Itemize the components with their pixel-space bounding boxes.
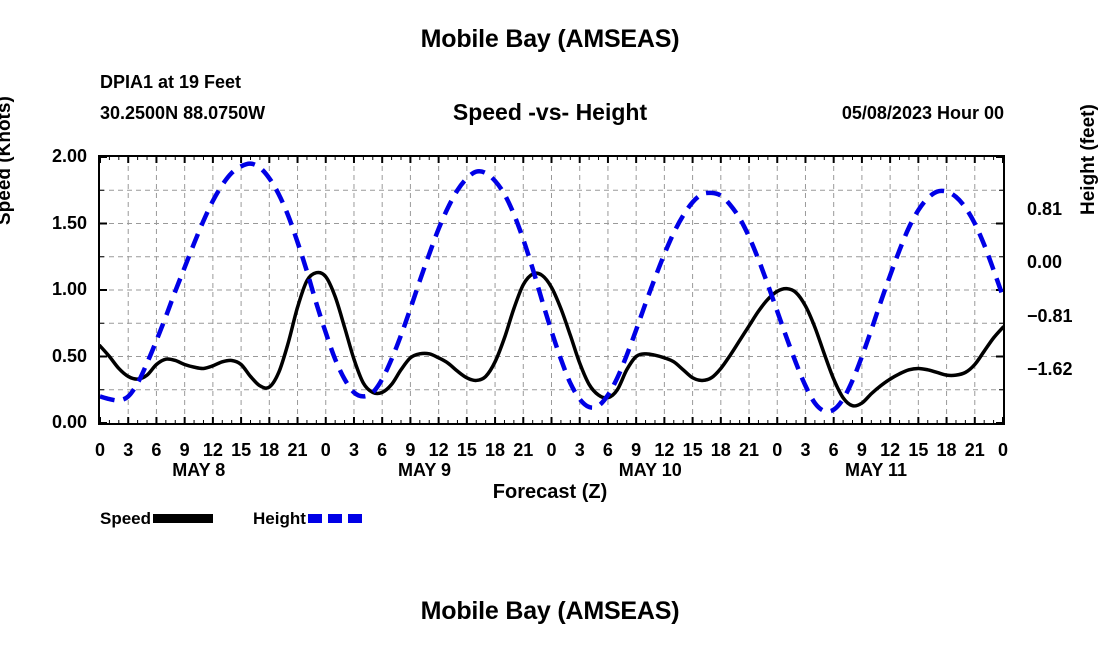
legend-swatch-speed-icon (153, 514, 213, 523)
x-tick-label: 3 (575, 440, 585, 461)
x-tick-label: 6 (377, 440, 387, 461)
x-tick-label: 21 (739, 440, 759, 461)
page-title: Mobile Bay (AMSEAS) (0, 25, 1100, 54)
x-tick-label: 12 (654, 440, 674, 461)
x-axis-label: Forecast (Z) (0, 481, 1100, 504)
x-tick-label: 15 (457, 440, 477, 461)
x-axis-day-label: MAY 8 (172, 460, 225, 481)
footer-title: Mobile Bay (AMSEAS) (0, 597, 1100, 626)
x-tick-label: 21 (513, 440, 533, 461)
x-tick-label: 12 (429, 440, 449, 461)
x-tick-label: 3 (349, 440, 359, 461)
x-tick-label: 6 (151, 440, 161, 461)
y-tick-label-left: 0.00 (52, 412, 87, 433)
y-axis-label-left: Speed (Knots) (0, 96, 16, 225)
station-name: DPIA1 at 19 Feet (100, 72, 241, 93)
y-tick-label-left: 2.00 (52, 146, 87, 167)
x-axis-day-label: MAY 11 (845, 460, 907, 481)
chart-legend: Speed Height (100, 509, 368, 527)
x-tick-label: 6 (829, 440, 839, 461)
x-axis-day-label: MAY 10 (619, 460, 682, 481)
x-tick-label: 0 (321, 440, 331, 461)
x-tick-label: 9 (405, 440, 415, 461)
legend-label-height: Height (253, 510, 306, 527)
x-tick-label: 3 (800, 440, 810, 461)
legend-item-height: Height (253, 510, 368, 527)
x-tick-label: 18 (937, 440, 957, 461)
x-tick-label: 15 (908, 440, 928, 461)
y-tick-label-left: 1.50 (52, 213, 87, 234)
x-tick-label: 9 (631, 440, 641, 461)
y-axis-label-right: Height (feet) (1078, 104, 1100, 215)
x-tick-label: 18 (711, 440, 731, 461)
x-tick-label: 9 (857, 440, 867, 461)
x-axis-day-label: MAY 9 (398, 460, 451, 481)
x-tick-label: 0 (998, 440, 1008, 461)
y-tick-label-right: −0.81 (1027, 306, 1073, 327)
x-tick-label: 9 (180, 440, 190, 461)
legend-label-speed: Speed (100, 510, 151, 527)
x-tick-label: 6 (603, 440, 613, 461)
y-tick-label-right: −1.62 (1027, 359, 1073, 380)
x-tick-label: 18 (485, 440, 505, 461)
x-tick-label: 3 (123, 440, 133, 461)
x-tick-label: 12 (203, 440, 223, 461)
x-tick-label: 21 (288, 440, 308, 461)
y-tick-label-right: 0.81 (1027, 199, 1062, 220)
chart-canvas (100, 157, 1003, 423)
legend-item-speed: Speed (100, 510, 213, 527)
x-tick-label: 15 (683, 440, 703, 461)
y-tick-label-left: 1.00 (52, 279, 87, 300)
y-tick-label-left: 0.50 (52, 346, 87, 367)
legend-swatch-height-icon (308, 514, 368, 523)
x-tick-label: 0 (95, 440, 105, 461)
x-tick-label: 21 (965, 440, 985, 461)
x-tick-label: 0 (772, 440, 782, 461)
x-tick-label: 18 (259, 440, 279, 461)
x-tick-label: 0 (546, 440, 556, 461)
chart-page: Mobile Bay (AMSEAS) DPIA1 at 19 Feet 30.… (0, 0, 1100, 650)
x-tick-label: 15 (231, 440, 251, 461)
x-tick-label: 12 (880, 440, 900, 461)
model-run-time: 05/08/2023 Hour 00 (842, 103, 1004, 124)
y-tick-label-right: 0.00 (1027, 252, 1062, 273)
plot-area (98, 155, 1005, 425)
